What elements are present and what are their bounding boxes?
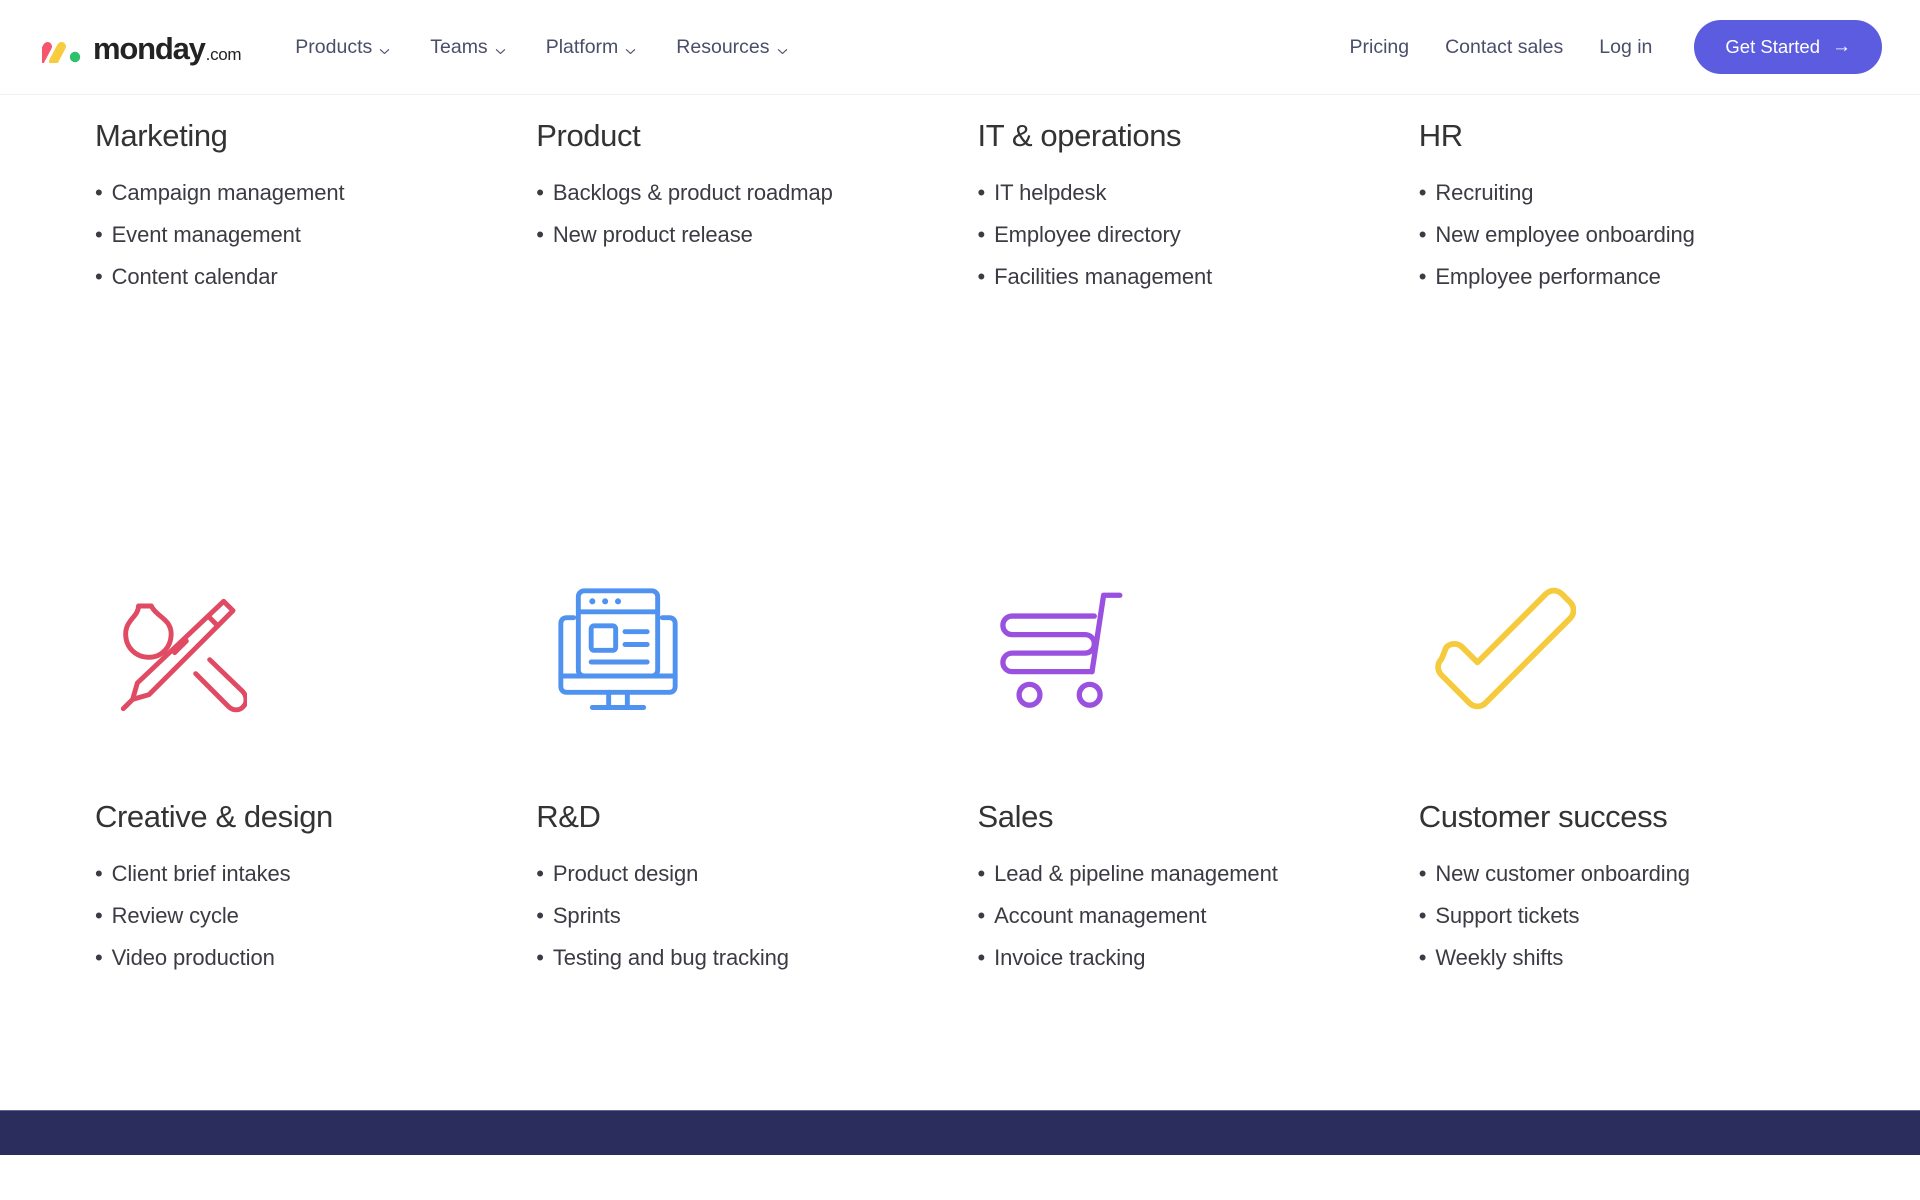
list-item[interactable]: •Support tickets	[1419, 905, 1820, 927]
list-item[interactable]: •IT helpdesk	[978, 182, 1379, 204]
card-list: •Lead & pipeline management •Account man…	[978, 863, 1379, 969]
bullet-icon: •	[978, 947, 986, 969]
bullet-icon: •	[1419, 947, 1427, 969]
bullet-icon: •	[95, 266, 103, 288]
list-item-label: IT helpdesk	[994, 182, 1106, 204]
bullet-icon: •	[978, 182, 986, 204]
list-item-label: Content calendar	[112, 266, 278, 288]
list-item-label: Employee performance	[1435, 266, 1660, 288]
card-title: Sales	[978, 798, 1379, 835]
list-item-label: Weekly shifts	[1435, 947, 1563, 969]
use-case-card-marketing: Marketing •Campaign management •Event ma…	[95, 117, 536, 308]
nav-item-products-label: Products	[295, 36, 372, 59]
list-item[interactable]: •New customer onboarding	[1419, 863, 1820, 885]
nav-item-teams-label: Teams	[430, 36, 487, 59]
list-item[interactable]: •Video production	[95, 947, 496, 969]
monday-logo-mark-icon	[42, 35, 86, 63]
nav-item-teams[interactable]: Teams	[410, 26, 525, 69]
nav-item-resources[interactable]: Resources	[656, 26, 807, 69]
list-item-label: Employee directory	[994, 224, 1181, 246]
list-item[interactable]: •Review cycle	[95, 905, 496, 927]
list-item-label: Product design	[553, 863, 698, 885]
bullet-icon: •	[1419, 863, 1427, 885]
bullet-icon: •	[95, 863, 103, 885]
get-started-button[interactable]: Get Started →	[1694, 20, 1882, 74]
list-item[interactable]: •Employee directory	[978, 224, 1379, 246]
chevron-down-icon	[777, 40, 788, 51]
list-item[interactable]: •Employee performance	[1419, 266, 1820, 288]
use-case-card-hr: HR •Recruiting •New employee onboarding …	[1419, 117, 1860, 308]
chevron-down-icon	[379, 40, 390, 51]
card-title: Customer success	[1419, 798, 1820, 835]
footer-strip	[0, 1110, 1920, 1155]
list-item-label: Campaign management	[112, 182, 345, 204]
card-title: Marketing	[95, 117, 496, 154]
monday-logo[interactable]: monday .com	[42, 32, 241, 63]
site-header: monday .com Products Teams Platform Reso…	[0, 0, 1920, 95]
bullet-icon: •	[95, 224, 103, 246]
use-cases-row-top: Marketing •Campaign management •Event ma…	[0, 95, 1920, 308]
list-item-label: New employee onboarding	[1435, 224, 1694, 246]
bullet-icon: •	[95, 947, 103, 969]
use-cases-section: Marketing •Campaign management •Event ma…	[0, 95, 1920, 1155]
shopping-cart-icon	[990, 586, 1135, 711]
list-item[interactable]: •Weekly shifts	[1419, 947, 1820, 969]
icon-slot-rd	[536, 498, 977, 798]
use-case-card-rd: R&D •Product design •Sprints •Testing an…	[536, 798, 977, 989]
bullet-icon: •	[95, 182, 103, 204]
nav-link-contact-sales[interactable]: Contact sales	[1427, 26, 1581, 69]
card-list: •IT helpdesk •Employee directory •Facili…	[978, 182, 1379, 288]
secondary-nav: Pricing Contact sales Log in Get Started…	[1331, 20, 1882, 74]
bullet-icon: •	[978, 905, 986, 927]
card-title: Product	[536, 117, 937, 154]
list-item-label: Invoice tracking	[994, 947, 1145, 969]
list-item[interactable]: •Account management	[978, 905, 1379, 927]
card-list: •Client brief intakes •Review cycle •Vid…	[95, 863, 496, 969]
list-item-label: Sprints	[553, 905, 621, 927]
list-item-label: Account management	[994, 905, 1206, 927]
bullet-icon: •	[536, 224, 544, 246]
list-item-label: Client brief intakes	[112, 863, 291, 885]
list-item[interactable]: •Sprints	[536, 905, 937, 927]
chevron-down-icon	[495, 40, 506, 51]
use-case-card-it-operations: IT & operations •IT helpdesk •Employee d…	[978, 117, 1419, 308]
nav-item-resources-label: Resources	[676, 36, 769, 59]
list-item[interactable]: •Content calendar	[95, 266, 496, 288]
icon-slot-customer-success	[1419, 498, 1860, 798]
bullet-icon: •	[1419, 224, 1427, 246]
card-list: •Recruiting •New employee onboarding •Em…	[1419, 182, 1820, 288]
bullet-icon: •	[536, 947, 544, 969]
use-cases-row-bottom: Creative & design •Client brief intakes …	[0, 798, 1920, 989]
logo-tld: .com	[206, 46, 242, 63]
list-item[interactable]: •New product release	[536, 224, 937, 246]
card-list: •Backlogs & product roadmap •New product…	[536, 182, 937, 246]
bullet-icon: •	[978, 863, 986, 885]
nav-item-products[interactable]: Products	[275, 26, 410, 69]
list-item-label: Lead & pipeline management	[994, 863, 1278, 885]
card-list: •Product design •Sprints •Testing and bu…	[536, 863, 937, 969]
arrow-right-icon: →	[1832, 37, 1851, 56]
card-title: IT & operations	[978, 117, 1379, 154]
bullet-icon: •	[978, 224, 986, 246]
list-item[interactable]: •Testing and bug tracking	[536, 947, 937, 969]
use-cases-icon-row	[0, 498, 1920, 798]
nav-link-pricing[interactable]: Pricing	[1331, 26, 1427, 69]
bullet-icon: •	[1419, 905, 1427, 927]
pen-and-brush-icon	[107, 578, 247, 718]
use-case-card-sales: Sales •Lead & pipeline management •Accou…	[978, 798, 1419, 989]
use-case-card-customer-success: Customer success •New customer onboardin…	[1419, 798, 1860, 989]
list-item-label: Testing and bug tracking	[553, 947, 789, 969]
primary-nav: Products Teams Platform Resources	[275, 26, 807, 69]
get-started-label: Get Started	[1725, 36, 1820, 58]
list-item[interactable]: •Campaign management	[95, 182, 496, 204]
card-title: HR	[1419, 117, 1820, 154]
list-item[interactable]: •Invoice tracking	[978, 947, 1379, 969]
row-spacer	[0, 308, 1920, 498]
list-item[interactable]: •Event management	[95, 224, 496, 246]
list-item-label: Backlogs & product roadmap	[553, 182, 833, 204]
list-item[interactable]: •Facilities management	[978, 266, 1379, 288]
list-item-label: Review cycle	[112, 905, 239, 927]
nav-link-log-in[interactable]: Log in	[1581, 26, 1670, 69]
list-item-label: Video production	[112, 947, 275, 969]
card-title: R&D	[536, 798, 937, 835]
logo-wordmark: monday	[93, 33, 205, 64]
list-item-label: Event management	[112, 224, 301, 246]
bullet-icon: •	[95, 905, 103, 927]
bullet-icon: •	[1419, 182, 1427, 204]
list-item-label: Support tickets	[1435, 905, 1579, 927]
use-case-card-product: Product •Backlogs & product roadmap •New…	[536, 117, 977, 308]
list-item-label: New customer onboarding	[1435, 863, 1690, 885]
list-item[interactable]: •Client brief intakes	[95, 863, 496, 885]
list-item-label: Facilities management	[994, 266, 1212, 288]
icon-slot-creative-design	[95, 498, 536, 798]
card-title: Creative & design	[95, 798, 496, 835]
list-item-label: Recruiting	[1435, 182, 1533, 204]
chevron-down-icon	[625, 40, 636, 51]
nav-item-platform[interactable]: Platform	[526, 26, 657, 69]
checkmark-icon	[1431, 586, 1576, 711]
card-list: •Campaign management •Event management •…	[95, 182, 496, 288]
card-list: •New customer onboarding •Support ticket…	[1419, 863, 1820, 969]
list-item[interactable]: •Lead & pipeline management	[978, 863, 1379, 885]
bullet-icon: •	[536, 863, 544, 885]
list-item[interactable]: •Recruiting	[1419, 182, 1820, 204]
nav-item-platform-label: Platform	[546, 36, 619, 59]
bullet-icon: •	[536, 905, 544, 927]
list-item[interactable]: •New employee onboarding	[1419, 224, 1820, 246]
bullet-icon: •	[536, 182, 544, 204]
list-item[interactable]: •Product design	[536, 863, 937, 885]
use-case-card-creative-design: Creative & design •Client brief intakes …	[95, 798, 536, 989]
list-item[interactable]: •Backlogs & product roadmap	[536, 182, 937, 204]
list-item-label: New product release	[553, 224, 753, 246]
monitor-window-icon	[548, 578, 688, 718]
icon-slot-sales	[978, 498, 1419, 798]
bullet-icon: •	[1419, 266, 1427, 288]
bullet-icon: •	[978, 266, 986, 288]
